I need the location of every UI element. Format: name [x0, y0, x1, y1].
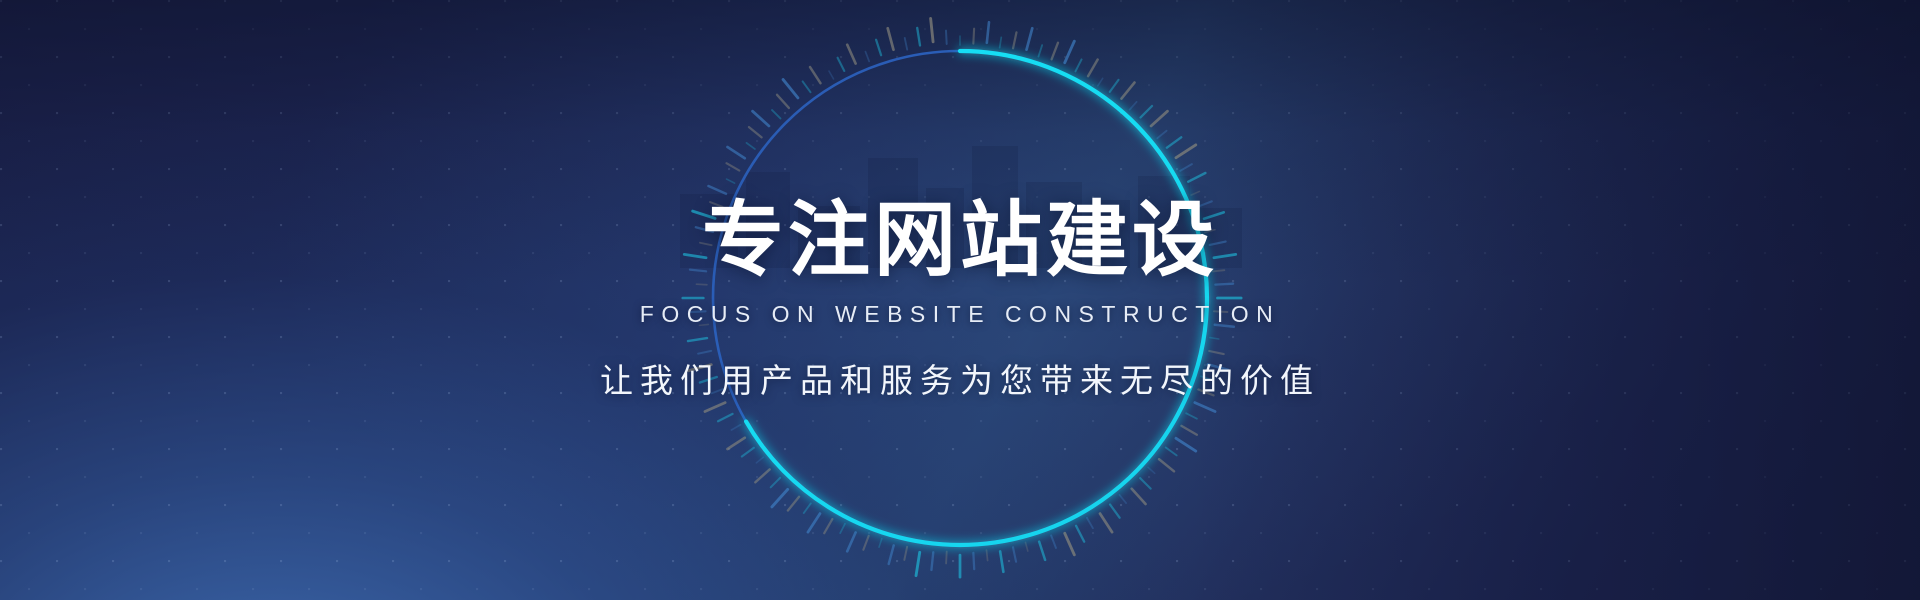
hero-text-block: 专注网站建设 FOCUS ON WEBSITE CONSTRUCTION 让我们…	[0, 0, 1920, 600]
page-title: 专注网站建设	[702, 198, 1218, 283]
tagline-chinese: 让我们用产品和服务为您带来无尽的价值	[600, 354, 1320, 402]
subtitle-english: FOCUS ON WEBSITE CONSTRUCTION	[640, 301, 1280, 328]
hero-banner: 专注网站建设 FOCUS ON WEBSITE CONSTRUCTION 让我们…	[0, 0, 1920, 600]
